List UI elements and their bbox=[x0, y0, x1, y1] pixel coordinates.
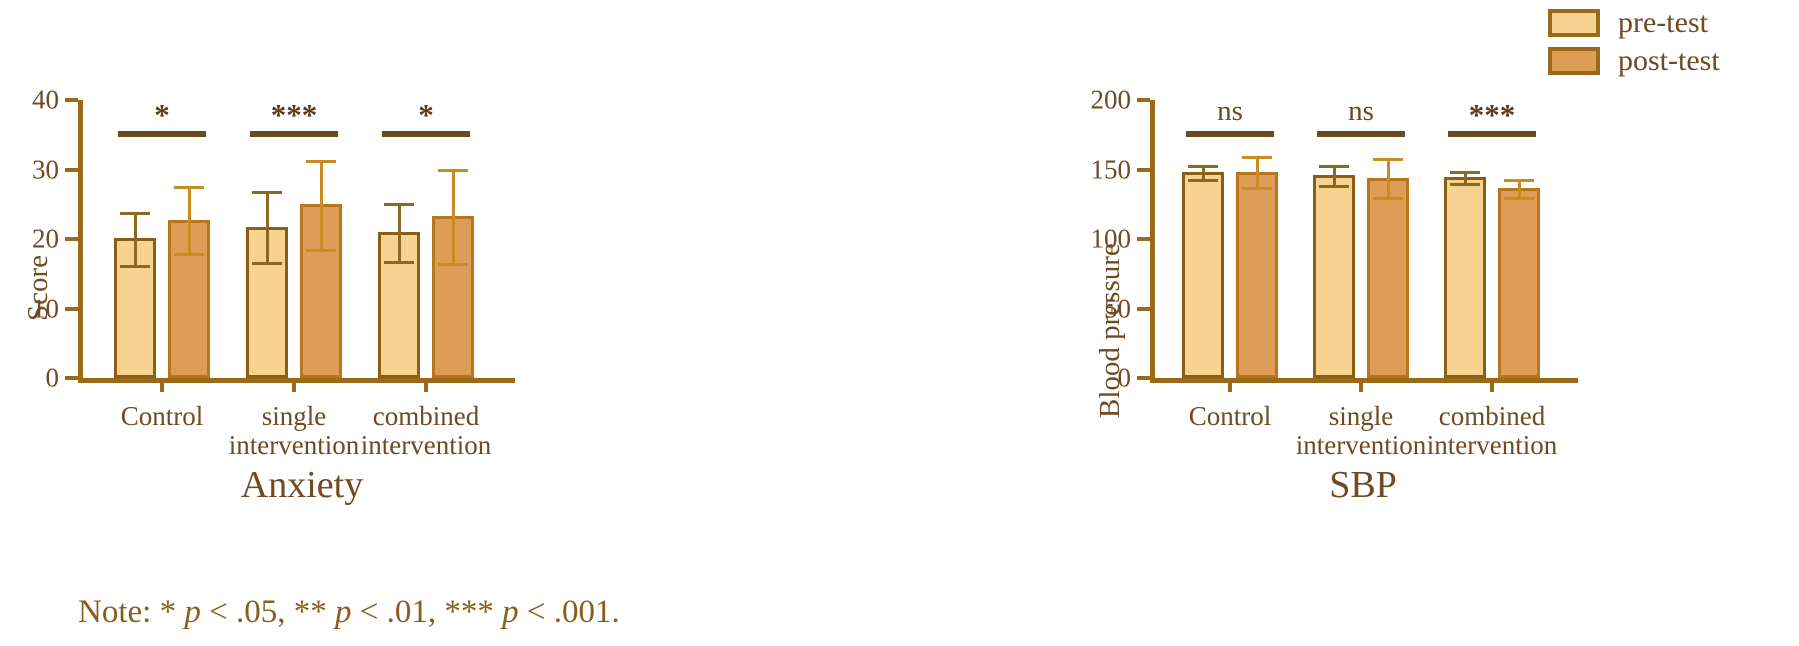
legend-label-pre-test: pre-test bbox=[1618, 8, 1708, 38]
y-tick-label-anxiety-40: 40 bbox=[32, 87, 59, 114]
figure-root: pre-test post-test 010203040*Control***s… bbox=[0, 0, 1799, 646]
note-mid-2: < .01, *** bbox=[351, 594, 502, 630]
x-tick-anxiety-combined-intervention bbox=[424, 378, 428, 392]
x-tick-anxiety-control bbox=[160, 378, 164, 392]
errorbar-line-anxiety-combined-intervention-post-test bbox=[452, 169, 455, 264]
x-category-line: intervention bbox=[229, 431, 359, 460]
errorbar-cap-upper-anxiety-single-intervention-pre-test bbox=[252, 191, 282, 194]
errorbar-line-anxiety-single-intervention-pre-test bbox=[266, 191, 269, 262]
note-suffix: < .001. bbox=[519, 594, 620, 630]
errorbar-cap-upper-anxiety-control-post-test bbox=[174, 186, 204, 189]
significance-label-anxiety-control: * bbox=[154, 99, 170, 130]
legend-label-post-test: post-test bbox=[1618, 46, 1720, 76]
errorbar-line-anxiety-combined-intervention-pre-test bbox=[398, 203, 401, 261]
panel-sbp: 050100150200nsControlnssingleinterventio… bbox=[545, 0, 1075, 646]
x-axis-anxiety bbox=[78, 378, 515, 383]
y-tick-label-anxiety-0: 0 bbox=[46, 365, 60, 392]
errorbar-cap-lower-anxiety-combined-intervention-post-test bbox=[438, 263, 468, 266]
y-tick-anxiety-40 bbox=[65, 98, 78, 102]
errorbar-cap-upper-anxiety-combined-intervention-pre-test bbox=[384, 203, 414, 206]
x-category-line: intervention bbox=[361, 431, 491, 460]
errorbar-line-anxiety-single-intervention-post-test bbox=[320, 160, 323, 249]
note-mid-1: < .05, ** bbox=[201, 594, 335, 630]
errorbar-cap-lower-anxiety-single-intervention-post-test bbox=[306, 249, 336, 252]
y-tick-anxiety-20 bbox=[65, 237, 78, 241]
y-tick-anxiety-0 bbox=[65, 376, 78, 380]
errorbar-cap-upper-anxiety-single-intervention-post-test bbox=[306, 160, 336, 163]
note-p-3: p bbox=[502, 594, 519, 630]
x-category-label-anxiety-control: Control bbox=[121, 402, 204, 431]
panel-anxiety: 010203040*Control***singleintervention*c… bbox=[0, 0, 560, 646]
errorbar-cap-lower-anxiety-control-pre-test bbox=[120, 265, 150, 268]
errorbar-cap-upper-anxiety-combined-intervention-post-test bbox=[438, 169, 468, 172]
x-category-label-anxiety-combined-intervention: combinedintervention bbox=[361, 402, 491, 460]
x-category-line: Control bbox=[121, 402, 204, 431]
errorbar-cap-lower-anxiety-combined-intervention-pre-test bbox=[384, 261, 414, 264]
errorbar-cap-lower-anxiety-control-post-test bbox=[174, 253, 204, 256]
errorbar-cap-lower-anxiety-single-intervention-pre-test bbox=[252, 262, 282, 265]
errorbar-cap-upper-anxiety-control-pre-test bbox=[120, 212, 150, 215]
x-category-label-anxiety-single-intervention: singleintervention bbox=[229, 402, 359, 460]
x-tick-anxiety-single-intervention bbox=[292, 378, 296, 392]
x-category-line: combined bbox=[361, 402, 491, 431]
note-p-2: p bbox=[335, 594, 352, 630]
y-axis-anxiety bbox=[78, 100, 83, 378]
x-category-line: single bbox=[229, 402, 359, 431]
errorbar-line-anxiety-control-pre-test bbox=[134, 212, 137, 265]
y-tick-anxiety-10 bbox=[65, 307, 78, 311]
y-tick-label-anxiety-20: 20 bbox=[32, 226, 59, 253]
panel-title-anxiety: Anxiety bbox=[241, 466, 363, 504]
note-prefix: Note: * bbox=[78, 594, 184, 630]
y-tick-label-anxiety-30: 30 bbox=[32, 156, 59, 183]
errorbar-line-anxiety-control-post-test bbox=[188, 186, 191, 253]
plot-area-anxiety: 010203040*Control***singleintervention*c… bbox=[78, 100, 515, 378]
note-p-1: p bbox=[184, 594, 201, 630]
significance-label-anxiety-single-intervention: *** bbox=[271, 99, 318, 130]
figure-note: Note: * p < .05, ** p < .01, *** p < .00… bbox=[78, 596, 620, 629]
panel-dbp: 050100150nsControl*singleintervention**c… bbox=[1060, 0, 1620, 646]
significance-label-anxiety-combined-intervention: * bbox=[418, 99, 434, 130]
y-tick-anxiety-30 bbox=[65, 168, 78, 172]
y-axis-label-anxiety: Score bbox=[22, 255, 55, 321]
